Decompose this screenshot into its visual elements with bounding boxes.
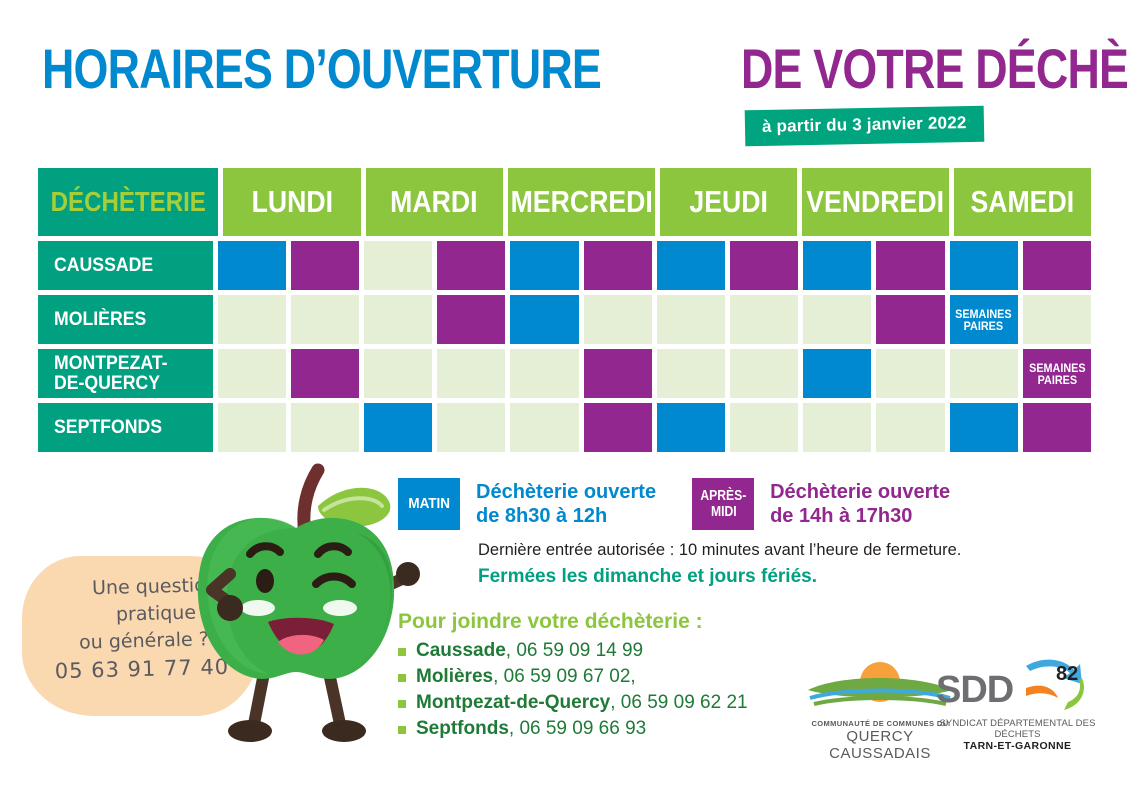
schedule-cell xyxy=(584,349,652,398)
contact-item: Septfonds, 06 59 09 66 93 xyxy=(398,718,748,740)
schedule-cell xyxy=(218,403,286,452)
schedule-cell xyxy=(803,295,871,344)
legend-chip-apresmidi: APRÈS- MIDI xyxy=(692,478,754,530)
sdd-subtitle: SYNDICAT DÉPARTEMENTAL DES DÉCHETS xyxy=(930,718,1105,740)
legend-midi-line2: de 14h à 17h30 xyxy=(770,504,950,528)
contact-phone[interactable]: , 06 59 09 14 99 xyxy=(506,640,643,662)
schedule-cell xyxy=(510,295,578,344)
contact-item: Montpezat-de-Quercy, 06 59 09 62 21 xyxy=(398,692,748,714)
schedule-cell xyxy=(510,349,578,398)
row-label-text: MONTPEZAT-DE-QUERCY xyxy=(54,354,168,393)
svg-text:SDD: SDD xyxy=(936,669,1013,711)
schedule-cell xyxy=(876,241,944,290)
schedule-cell xyxy=(291,241,359,290)
contact-name: Caussade xyxy=(416,640,506,662)
schedule-cell xyxy=(1023,241,1091,290)
day-label: VENDREDI xyxy=(806,184,944,220)
schedule-cell xyxy=(730,295,798,344)
table-row: MOLIÈRESSEMAINESPAIRES xyxy=(38,295,1091,344)
schedule-cell xyxy=(584,241,652,290)
poster-root: HORAIRES D’OUVERTUREDE VOTRE DÉCHÈTERIE … xyxy=(0,0,1127,793)
schedule-cell xyxy=(730,403,798,452)
schedule-cell xyxy=(657,241,725,290)
note-last-entry: Dernière entrée autorisée : 10 minutes a… xyxy=(478,541,961,560)
table-corner-header: DÉCHÈTERIE xyxy=(38,168,218,236)
legend-chip-apresmidi-line2: MIDI xyxy=(710,504,736,520)
schedule-cell xyxy=(364,295,432,344)
day-header-jeudi: JEUDI xyxy=(660,168,797,236)
contact-list: Caussade, 06 59 09 14 99Molières, 06 59 … xyxy=(398,640,748,740)
table-row: MONTPEZAT-DE-QUERCYSEMAINESPAIRES xyxy=(38,349,1091,398)
schedule-cell xyxy=(657,349,725,398)
table-header-row: DÉCHÈTERIE LUNDI MARDI MERCREDI JEUDI VE… xyxy=(38,168,1091,236)
schedule-cell xyxy=(1023,295,1091,344)
schedule-cell: SEMAINESPAIRES xyxy=(1023,349,1091,398)
schedule-cell xyxy=(291,349,359,398)
schedule-cell xyxy=(437,349,505,398)
day-header-samedi: SAMEDI xyxy=(954,168,1091,236)
title-part-purple: DE VOTRE DÉCHÈTERIE xyxy=(741,36,1127,101)
cell-note: SEMAINESPAIRES xyxy=(955,308,1011,332)
legend: MATIN Déchèterie ouverte de 8h30 à 12h A… xyxy=(398,478,1098,530)
page-title: HORAIRES D’OUVERTUREDE VOTRE DÉCHÈTERIE xyxy=(42,36,1092,98)
logo-sdd82: SDD 82 SYNDICAT DÉPARTEMENTAL DES DÉCHET… xyxy=(930,658,1105,752)
schedule-table: DÉCHÈTERIE LUNDI MARDI MERCREDI JEUDI VE… xyxy=(38,168,1091,457)
schedule-cell xyxy=(437,295,505,344)
row-label-text: SEPTFONDS xyxy=(54,418,162,437)
schedule-cell xyxy=(950,403,1018,452)
schedule-cell xyxy=(510,403,578,452)
apple-mascot-icon xyxy=(168,456,424,748)
day-header-vendredi: VENDREDI xyxy=(802,168,949,236)
contact-phone[interactable]: , 06 59 09 67 02, xyxy=(493,666,636,688)
sdd-region: TARN-ET-GARONNE xyxy=(930,740,1105,752)
start-date-banner: à partir du 3 janvier 2022 xyxy=(745,106,984,147)
legend-text-apresmidi: Déchèterie ouverte de 14h à 17h30 xyxy=(770,480,950,529)
legend-chip-apresmidi-line1: APRÈS- xyxy=(700,488,746,504)
legend-matin-line1: Déchèterie ouverte xyxy=(476,480,656,504)
cell-note: SEMAINESPAIRES xyxy=(1029,362,1085,386)
day-label: SAMEDI xyxy=(971,184,1075,220)
row-label-text: CAUSSADE xyxy=(54,256,153,275)
schedule-cell xyxy=(657,403,725,452)
schedule-cell xyxy=(1023,403,1091,452)
schedule-cell xyxy=(364,403,432,452)
contact-section: Pour joindre votre déchèterie : Caussade… xyxy=(398,610,748,744)
schedule-cell: SEMAINESPAIRES xyxy=(950,295,1018,344)
contact-item: Caussade, 06 59 09 14 99 xyxy=(398,640,748,662)
schedule-cell xyxy=(876,349,944,398)
note-closed-days: Fermées les dimanche et jours fériés. xyxy=(478,566,817,588)
day-header-lundi: LUNDI xyxy=(223,168,360,236)
day-label: JEUDI xyxy=(689,184,768,220)
schedule-cell xyxy=(291,403,359,452)
table-body: CAUSSADEMOLIÈRESSEMAINESPAIRESMONTPEZAT-… xyxy=(38,241,1091,452)
row-label-montpezat-de-quercy: MONTPEZAT-DE-QUERCY xyxy=(38,349,213,398)
title-part-blue: HORAIRES D’OUVERTURE xyxy=(42,36,601,101)
legend-text-matin: Déchèterie ouverte de 8h30 à 12h xyxy=(476,480,656,529)
legend-midi-line1: Déchèterie ouverte xyxy=(770,480,950,504)
schedule-cell xyxy=(803,241,871,290)
schedule-cell xyxy=(657,295,725,344)
schedule-cell xyxy=(803,403,871,452)
contact-phone[interactable]: , 06 59 09 66 93 xyxy=(509,718,646,740)
legend-matin-line2: de 8h30 à 12h xyxy=(476,504,656,528)
contact-title: Pour joindre votre déchèterie : xyxy=(398,610,748,634)
schedule-cell xyxy=(730,349,798,398)
row-label-moli-res: MOLIÈRES xyxy=(38,295,213,344)
schedule-cell xyxy=(218,241,286,290)
row-label-text: MOLIÈRES xyxy=(54,310,146,329)
schedule-cell xyxy=(218,349,286,398)
schedule-cell xyxy=(364,241,432,290)
schedule-cell xyxy=(291,295,359,344)
schedule-cell xyxy=(437,403,505,452)
schedule-cell xyxy=(876,403,944,452)
sdd82-mark-icon: SDD 82 xyxy=(930,658,1105,712)
schedule-cell xyxy=(584,403,652,452)
schedule-cell xyxy=(803,349,871,398)
day-label: MERCREDI xyxy=(510,184,652,220)
day-label: LUNDI xyxy=(251,184,332,220)
schedule-cell xyxy=(584,295,652,344)
table-row: CAUSSADE xyxy=(38,241,1091,290)
legend-chip-apresmidi-label: APRÈS- MIDI xyxy=(698,488,749,520)
contact-name: Molières xyxy=(416,666,493,688)
contact-item: Molières, 06 59 09 67 02, xyxy=(398,666,748,688)
schedule-cell xyxy=(218,295,286,344)
table-row: SEPTFONDS xyxy=(38,403,1091,452)
contact-name: Septfonds xyxy=(416,718,509,740)
day-header-mardi: MARDI xyxy=(366,168,503,236)
schedule-cell xyxy=(510,241,578,290)
day-header-mercredi: MERCREDI xyxy=(508,168,655,236)
schedule-cell xyxy=(437,241,505,290)
schedule-cell xyxy=(950,241,1018,290)
contact-name: Montpezat-de-Quercy xyxy=(416,692,610,714)
sdd-number-label: 82 xyxy=(1056,663,1078,685)
row-label-septfonds: SEPTFONDS xyxy=(38,403,213,452)
schedule-cell xyxy=(730,241,798,290)
row-label-caussade: CAUSSADE xyxy=(38,241,213,290)
contact-phone[interactable]: , 06 59 09 62 21 xyxy=(610,692,747,714)
schedule-cell xyxy=(950,349,1018,398)
schedule-cell xyxy=(876,295,944,344)
day-label: MARDI xyxy=(390,184,477,220)
corner-label: DÉCHÈTERIE xyxy=(51,186,206,218)
schedule-cell xyxy=(364,349,432,398)
